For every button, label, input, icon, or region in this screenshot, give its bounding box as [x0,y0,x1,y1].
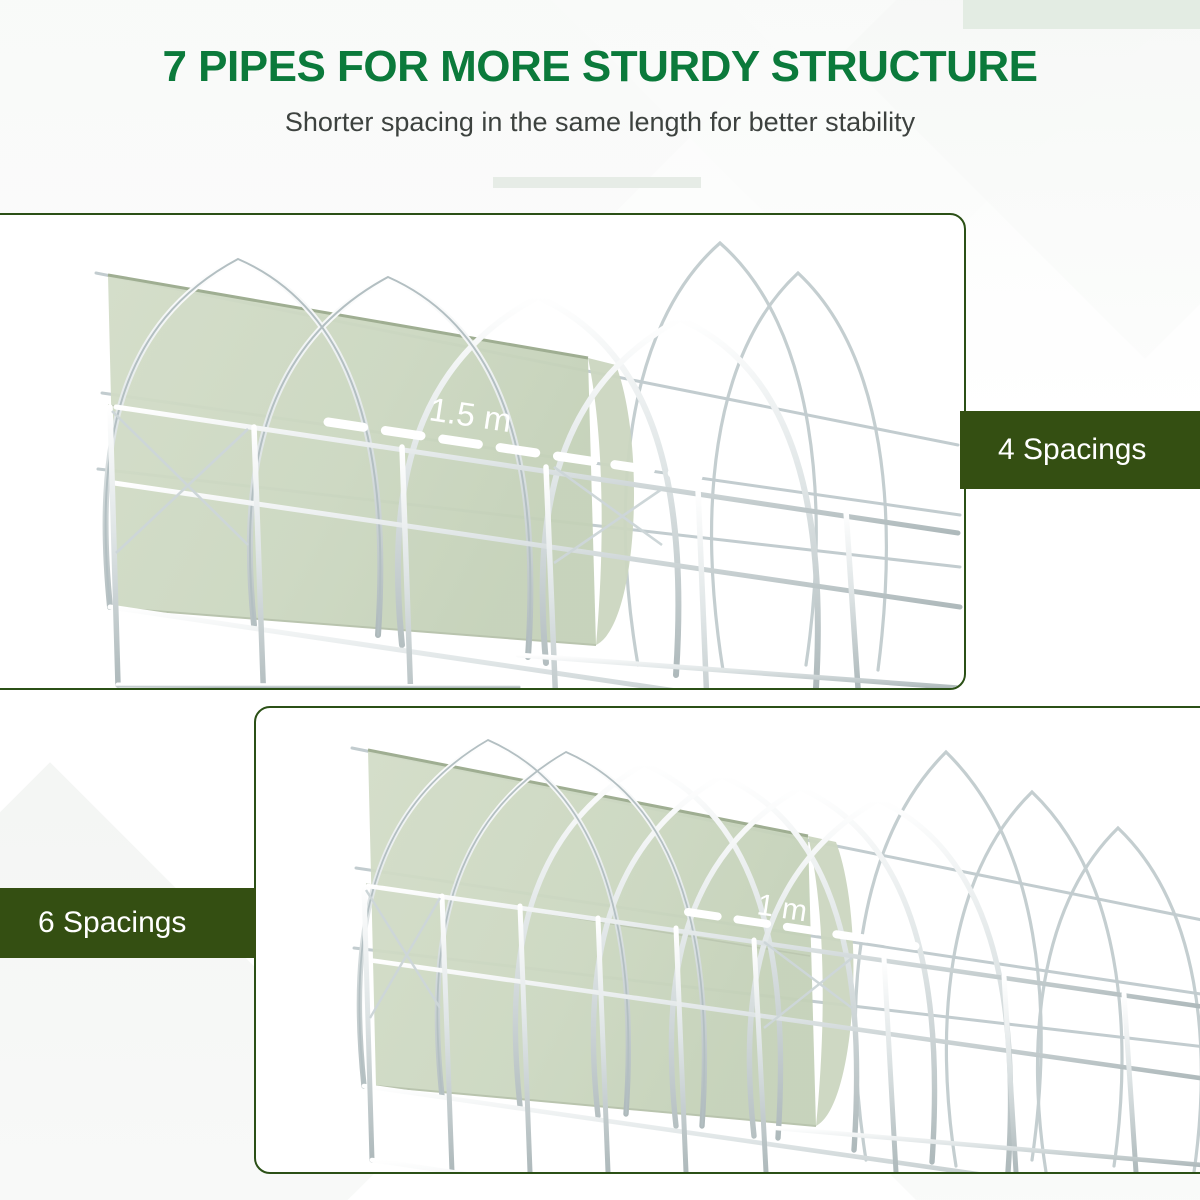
infographic-root: 7 PIPES FOR MORE STURDY STRUCTURE Shorte… [0,0,1200,1200]
base-rails-bottom [372,1128,1200,1172]
greenhouse-illustration-top: 1.5 m [0,215,964,688]
badge-six-spacings: 6 Spacings [0,888,256,958]
page-title: 7 PIPES FOR MORE STURDY STRUCTURE [0,0,1200,90]
badge-label-six-spacings: 6 Spacings [38,908,186,938]
panel-six-spacings: 1 m [254,706,1200,1174]
greenhouse-illustration-bottom: 1 m [256,708,1200,1172]
title-divider [493,177,701,188]
badge-label-four-spacings: 4 Spacings [998,435,1146,465]
header: 7 PIPES FOR MORE STURDY STRUCTURE Shorte… [0,0,1200,139]
badge-four-spacings: 4 Spacings [960,411,1200,489]
panel-four-spacings: 1.5 m [0,213,966,690]
page-subtitle: Shorter spacing in the same length for b… [0,90,1200,138]
